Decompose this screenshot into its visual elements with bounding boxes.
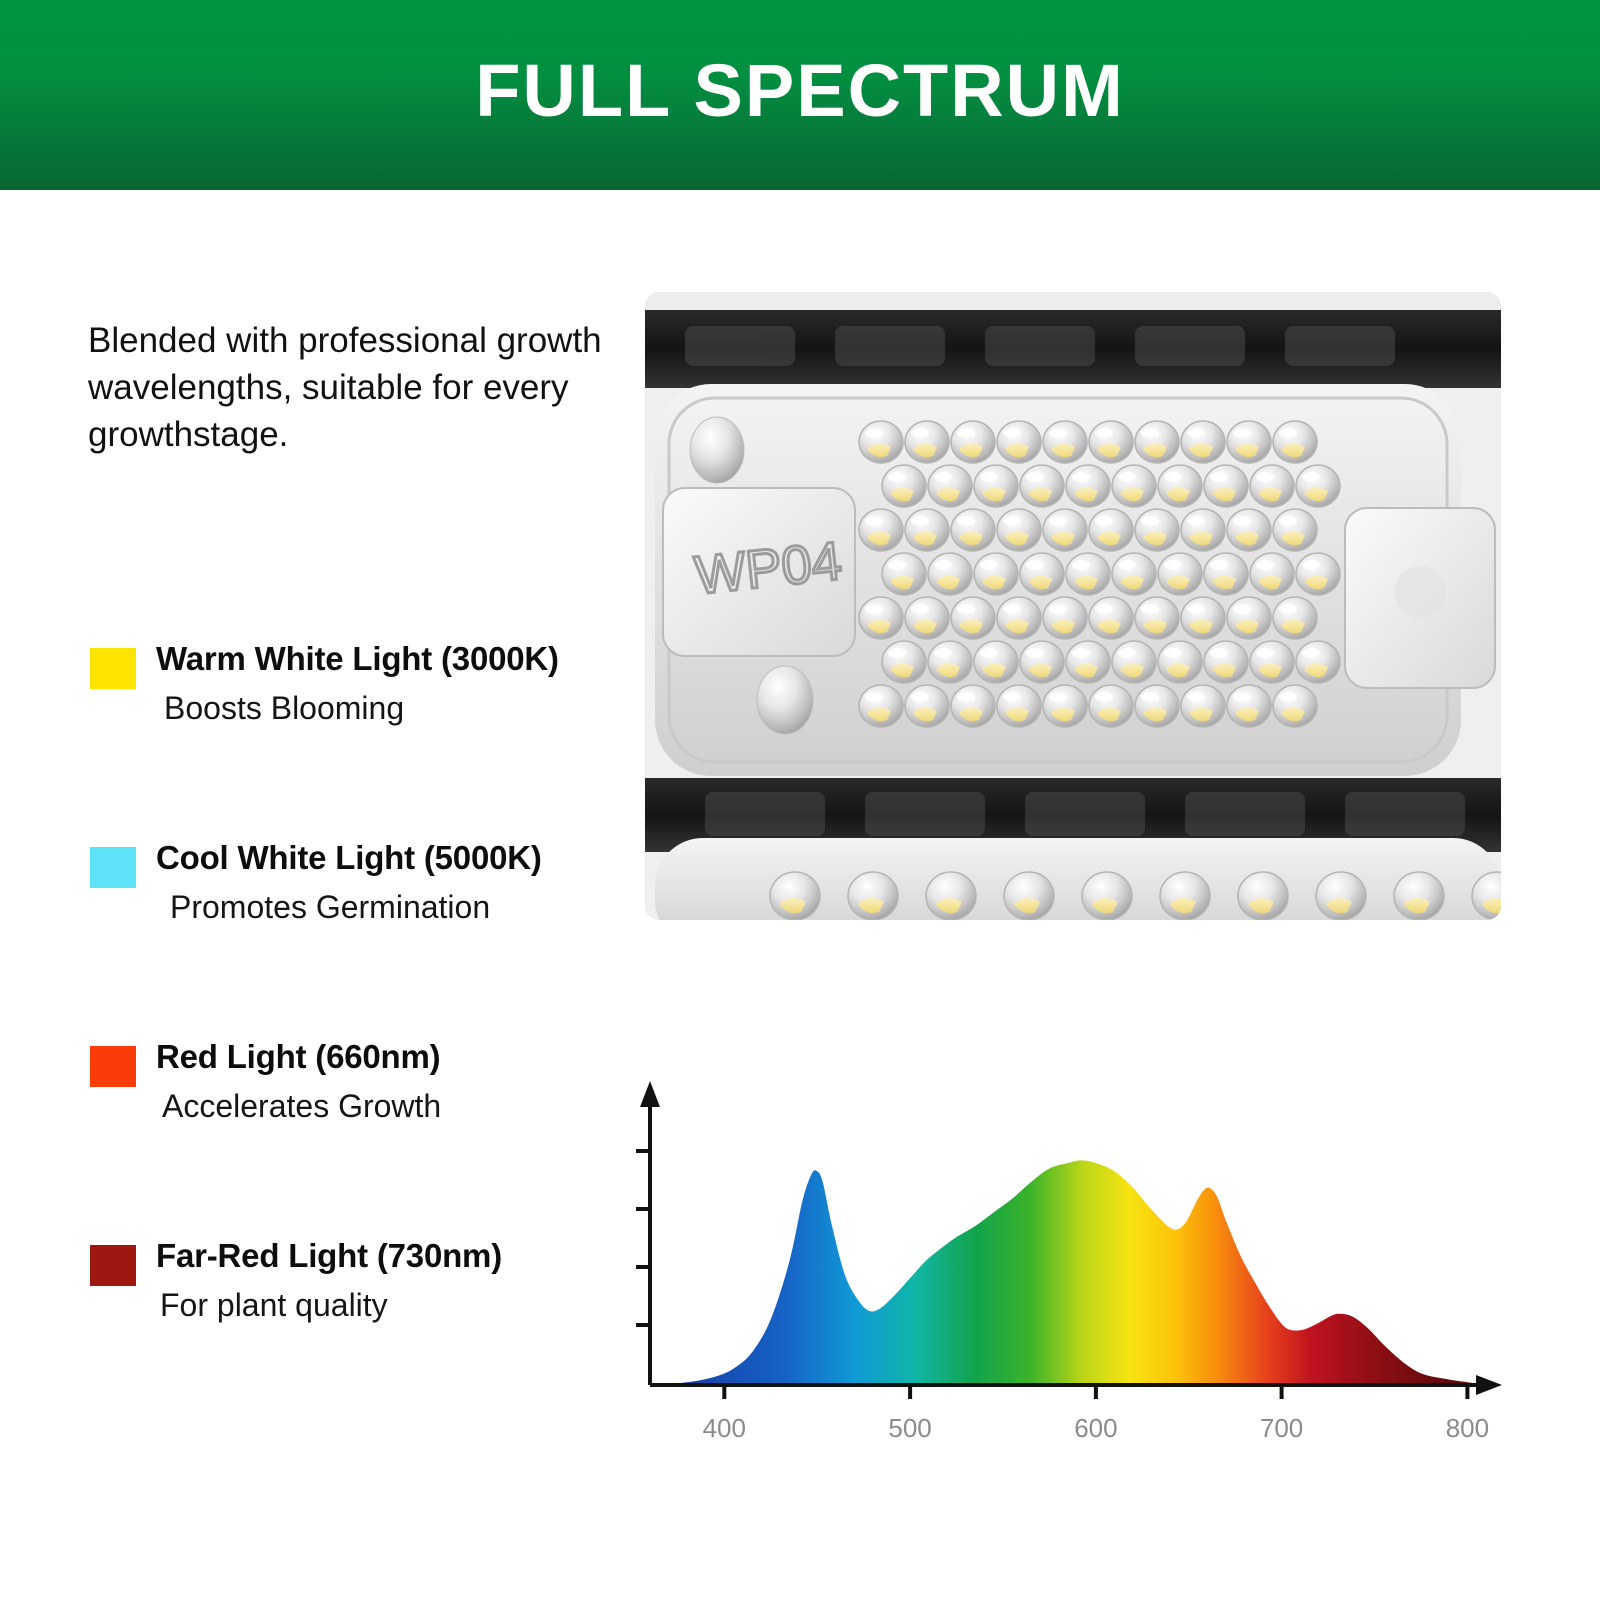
svg-text:400: 400 bbox=[703, 1413, 746, 1443]
intro-paragraph: Blended with professional growth wavelen… bbox=[88, 318, 618, 459]
legend-item-cool-white: Cool White Light (5000K) Promotes Germin… bbox=[0, 837, 640, 987]
led-module-illustration: WP04 bbox=[645, 292, 1501, 920]
red-swatch bbox=[90, 1046, 136, 1087]
product-photo: WP04 bbox=[645, 292, 1501, 920]
far-red-swatch bbox=[90, 1245, 136, 1286]
page-title: FULL SPECTRUM bbox=[475, 54, 1125, 128]
legend-body: Cool White Light (5000K) Promotes Germin… bbox=[90, 837, 640, 929]
x-axis-ticks bbox=[724, 1385, 1467, 1399]
cool-white-swatch bbox=[90, 847, 136, 888]
spectrum-chart-svg: 400500600700800 bbox=[620, 1055, 1520, 1455]
legend-description: For plant quality bbox=[156, 1285, 640, 1327]
header-banner: FULL SPECTRUM bbox=[0, 0, 1600, 190]
legend-item-warm-white: Warm White Light (3000K) Boosts Blooming bbox=[0, 638, 640, 788]
legend-title: Cool White Light (5000K) bbox=[156, 837, 640, 878]
spectrum-curve bbox=[650, 1160, 1486, 1385]
y-axis-arrowhead bbox=[640, 1081, 660, 1107]
legend-body: Warm White Light (3000K) Boosts Blooming bbox=[90, 638, 640, 730]
svg-text:700: 700 bbox=[1260, 1413, 1303, 1443]
spectrum-chart: 400500600700800 bbox=[620, 1055, 1520, 1455]
left-column: Blended with professional growth wavelen… bbox=[0, 190, 640, 1600]
legend-item-red: Red Light (660nm) Accelerates Growth bbox=[0, 1036, 640, 1186]
warm-white-swatch bbox=[90, 648, 136, 689]
svg-text:800: 800 bbox=[1446, 1413, 1489, 1443]
svg-text:600: 600 bbox=[1074, 1413, 1117, 1443]
y-axis-ticks bbox=[636, 1151, 650, 1325]
legend-title: Warm White Light (3000K) bbox=[156, 638, 640, 679]
legend-body: Red Light (660nm) Accelerates Growth bbox=[90, 1036, 640, 1128]
x-axis-tick-labels: 400500600700800 bbox=[703, 1413, 1489, 1443]
infographic-page: FULL SPECTRUM Blended with professional … bbox=[0, 0, 1600, 1600]
x-axis-arrowhead bbox=[1476, 1375, 1502, 1395]
spectrum-legend-list: Warm White Light (3000K) Boosts Blooming… bbox=[0, 638, 640, 1385]
legend-title: Far-Red Light (730nm) bbox=[156, 1235, 640, 1276]
svg-text:500: 500 bbox=[888, 1413, 931, 1443]
legend-description: Promotes Germination bbox=[156, 887, 640, 929]
legend-body: Far-Red Light (730nm) For plant quality bbox=[90, 1235, 640, 1327]
legend-item-far-red: Far-Red Light (730nm) For plant quality bbox=[0, 1235, 640, 1385]
legend-description: Boosts Blooming bbox=[156, 688, 640, 730]
legend-description: Accelerates Growth bbox=[156, 1086, 640, 1128]
legend-title: Red Light (660nm) bbox=[156, 1036, 640, 1077]
